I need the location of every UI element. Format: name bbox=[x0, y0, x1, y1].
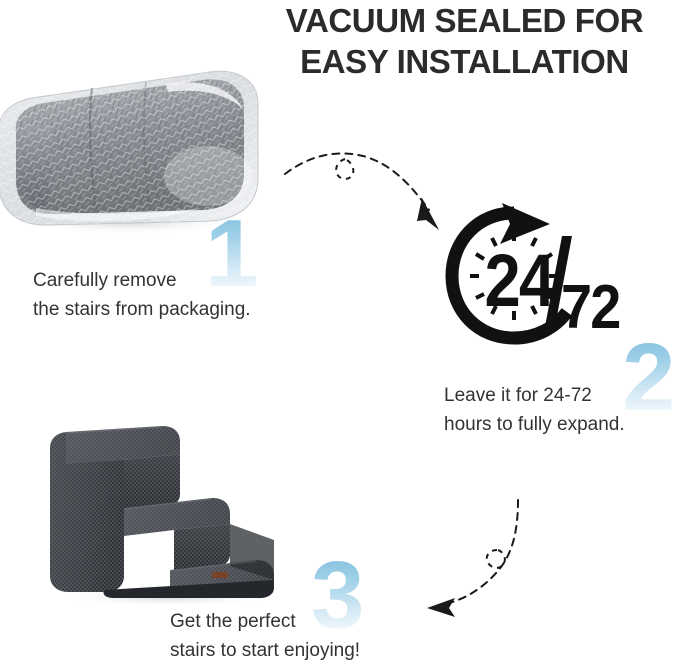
page-title: VACUUM SEALED FOR EASY INSTALLATION bbox=[250, 0, 679, 82]
step-1-caption-line-1: Carefully remove bbox=[33, 266, 251, 295]
brand-tag bbox=[212, 572, 228, 578]
dashed-arrow-step1-to-step2-icon bbox=[283, 148, 451, 232]
infographic-canvas: VACUUM SEALED FOR EASY INSTALLATION bbox=[0, 0, 679, 663]
step-1-caption: Carefully remove the stairs from packagi… bbox=[33, 266, 251, 324]
step-1-caption-line-2: the stairs from packaging. bbox=[33, 295, 251, 324]
clock-value-right: 72 bbox=[561, 273, 620, 341]
clock-value-left: 24 bbox=[484, 239, 555, 322]
step-3-caption-line-1: Get the perfect bbox=[170, 607, 360, 636]
step-2-caption-line-2: hours to fully expand. bbox=[444, 410, 625, 439]
step-3-caption-line-2: stairs to start enjoying! bbox=[170, 636, 360, 663]
page-title-line-2: EASY INSTALLATION bbox=[250, 41, 679, 82]
page-title-line-1: VACUUM SEALED FOR bbox=[250, 0, 679, 41]
step-2-caption: Leave it for 24-72 hours to fully expand… bbox=[444, 381, 625, 439]
dashed-arrow-step2-to-step3-icon bbox=[425, 498, 570, 620]
clock-24-72-icon: 24 72 bbox=[444, 200, 636, 345]
step-3-caption: Get the perfect stairs to start enjoying… bbox=[170, 607, 360, 663]
step-2-caption-line-1: Leave it for 24-72 bbox=[444, 381, 625, 410]
product-image-pet-stairs bbox=[44, 420, 280, 606]
step-number-2: 2 bbox=[622, 330, 675, 426]
